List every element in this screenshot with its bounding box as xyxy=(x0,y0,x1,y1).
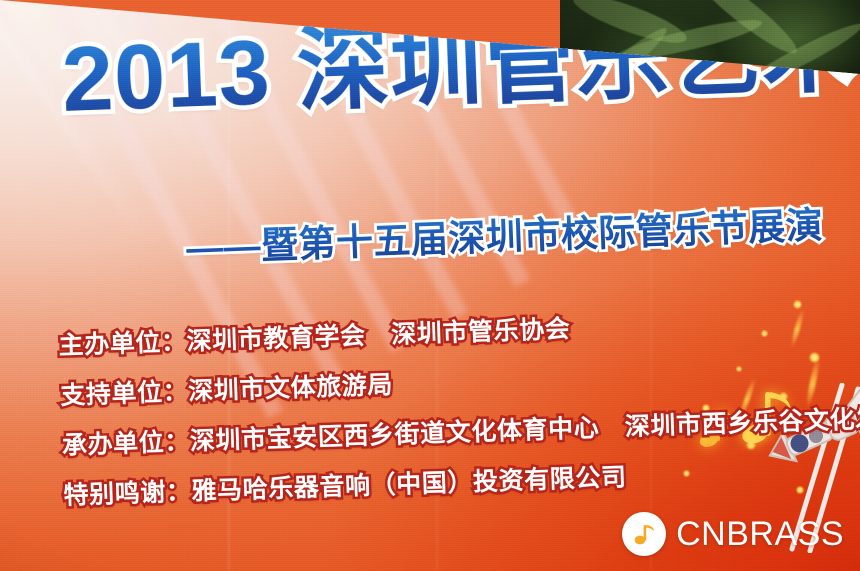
banner-board: 2013 深圳管乐艺术节 2013 深圳管乐艺术节 ——暨第十五届深圳市校际管乐… xyxy=(0,0,860,571)
banner-photo: 2013 深圳管乐艺术节 2013 深圳管乐艺术节 ——暨第十五届深圳市校际管乐… xyxy=(0,0,860,571)
watermark: CNBRASS xyxy=(622,511,844,557)
credits-block: 主办单位：深圳市教育学会 深圳市管乐协会 主办单位：深圳市教育学会 深圳市管乐协… xyxy=(58,300,854,526)
watermark-text: CNBRASS xyxy=(676,515,844,554)
music-note-icon xyxy=(622,512,666,556)
